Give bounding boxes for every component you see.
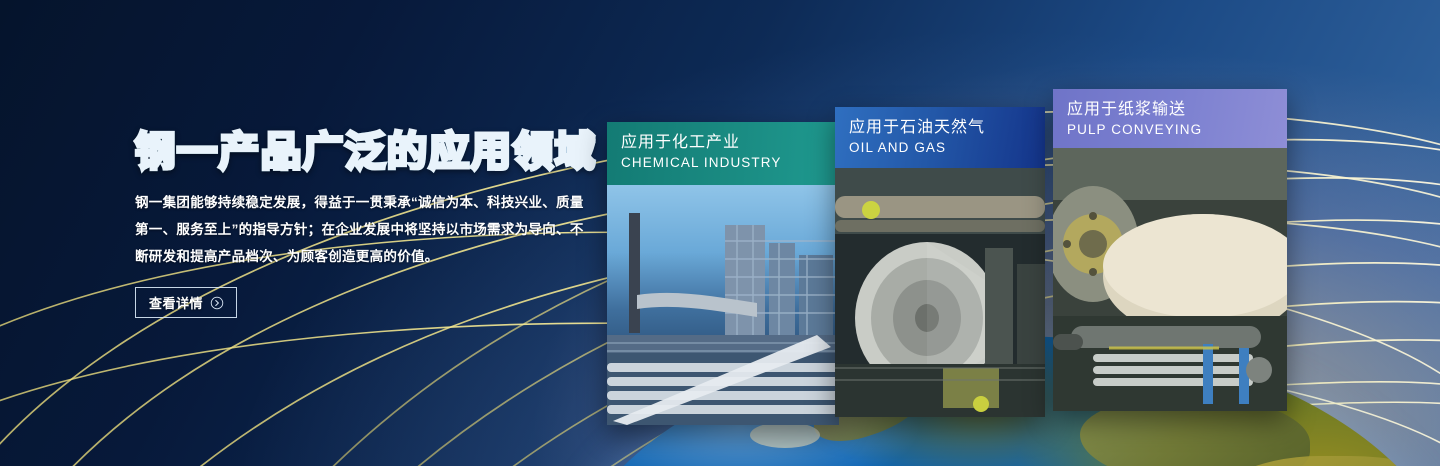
- application-card-oil-and-gas[interactable]: 应用于石油天然气 OIL AND GAS: [835, 107, 1045, 417]
- card-caption: 应用于纸浆输送 PULP CONVEYING: [1053, 89, 1287, 148]
- card-caption: 应用于石油天然气 OIL AND GAS: [835, 107, 1045, 168]
- chevron-right-circle-icon: [210, 296, 224, 310]
- card-title-en: CHEMICAL INDUSTRY: [621, 154, 825, 172]
- view-details-label: 查看详情: [149, 293, 203, 312]
- card-caption: 应用于化工产业 CHEMICAL INDUSTRY: [607, 122, 839, 185]
- card-title-zh: 应用于石油天然气: [849, 118, 1031, 138]
- application-card-pulp-conveying[interactable]: 应用于纸浆输送 PULP CONVEYING: [1053, 89, 1287, 411]
- banner-description: 钢一集团能够持续稳定发展，得益于一贯秉承“诚信为本、科技兴业、质量第一、服务至上…: [135, 189, 590, 270]
- card-photo-chemical: [607, 185, 839, 425]
- card-title-zh: 应用于纸浆输送: [1067, 100, 1273, 120]
- view-details-button[interactable]: 查看详情: [135, 287, 237, 318]
- page-title: 钢一产品广泛的应用领域: [135, 131, 605, 173]
- hero-banner: 钢一产品广泛的应用领域 钢一集团能够持续稳定发展，得益于一贯秉承“诚信为本、科技…: [0, 0, 1440, 466]
- application-card-chemical[interactable]: 应用于化工产业 CHEMICAL INDUSTRY: [607, 122, 839, 425]
- card-photo-pulp-conveying: [1053, 148, 1287, 411]
- card-photo-oil-and-gas: [835, 168, 1045, 417]
- card-title-en: PULP CONVEYING: [1067, 121, 1273, 139]
- card-title-zh: 应用于化工产业: [621, 133, 825, 153]
- banner-copy-block: 钢一产品广泛的应用领域 钢一集团能够持续稳定发展，得益于一贯秉承“诚信为本、科技…: [135, 131, 605, 318]
- globe-landmass: [750, 422, 820, 448]
- card-title-en: OIL AND GAS: [849, 139, 1031, 157]
